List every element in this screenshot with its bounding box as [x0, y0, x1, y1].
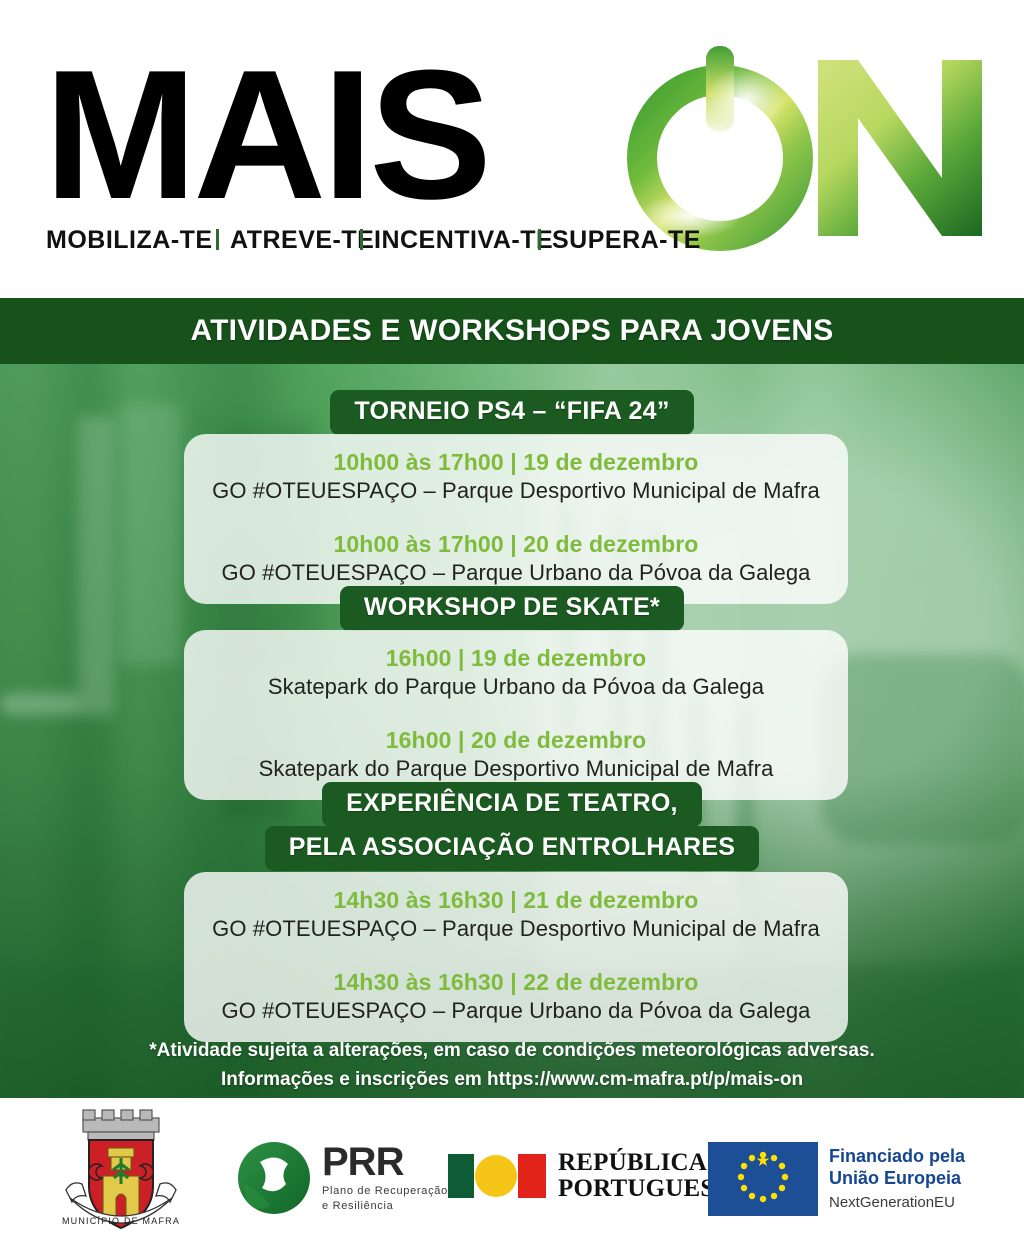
activities-content: TORNEIO PS4 – “FIFA 24” 10h00 às 17h00 |…	[0, 364, 1024, 1098]
logo-tagline-part-3: SUPERA-TE	[552, 226, 701, 253]
logo-area: MAIS MOBILIZA-TE ATREVE-TE	[0, 0, 1024, 298]
tagline-divider-icon	[360, 229, 363, 250]
section-title-experiencia-teatro-line2: PELA ASSOCIAÇÃO ENTROLHARES	[265, 826, 760, 871]
section-card-workshop-skate: 16h00 | 19 de dezembro Skatepark do Parq…	[184, 630, 848, 800]
event-place: GO #OTEUESPAÇO – Parque Urbano da Póvoa …	[184, 997, 848, 1026]
event-time: 14h30 às 16h30 | 22 de dezembro	[184, 968, 848, 997]
republica-line-2: PORTUGUESA	[558, 1176, 733, 1202]
footnote-line-1: *Atividade sujeita a alterações, em caso…	[0, 1036, 1024, 1065]
logo-tagline-part-0: MOBILIZA-TE	[46, 226, 213, 253]
prr-text-block: PRR Plano de Recuperação e Resiliência	[322, 1143, 448, 1214]
tagline-divider-icon	[538, 229, 541, 250]
republica-portuguesa-logo: REPÚBLICA PORTUGUESA	[448, 1150, 733, 1201]
section-title-workshop-skate: WORKSHOP DE SKATE*	[340, 586, 684, 631]
section-title-experiencia-teatro: EXPERIÊNCIA DE TEATRO,	[322, 782, 702, 827]
republica-text-block: REPÚBLICA PORTUGUESA	[558, 1150, 733, 1201]
mafra-crest-icon: MUNICÍPIO DE MAFRA	[56, 1106, 186, 1246]
event-time: 14h30 às 16h30 | 21 de dezembro	[184, 886, 848, 915]
section-title-row: TORNEIO PS4 – “FIFA 24”	[0, 390, 1024, 435]
event-spacer	[184, 944, 848, 968]
republica-line-1: REPÚBLICA	[558, 1150, 733, 1176]
footnote-line-2[interactable]: Informações e inscrições em https://www.…	[0, 1065, 1024, 1094]
event-time: 10h00 às 17h00 | 20 de dezembro	[184, 530, 848, 559]
poster: MAIS MOBILIZA-TE ATREVE-TE	[0, 0, 1024, 1258]
section-card-experiencia-teatro: 14h30 às 16h30 | 21 de dezembro GO #OTEU…	[184, 872, 848, 1042]
republica-flag-icon	[448, 1154, 546, 1198]
eu-line-2: União Europeia	[829, 1168, 965, 1190]
event-spacer	[184, 702, 848, 726]
prr-globe-icon	[236, 1140, 312, 1216]
eu-flag-icon	[708, 1142, 818, 1216]
event-place: GO #OTEUESPAÇO – Parque Desportivo Munic…	[184, 915, 848, 944]
section-title-row: EXPERIÊNCIA DE TEATRO,	[0, 782, 1024, 827]
event-place: GO #OTEUESPAÇO – Parque Urbano da Póvoa …	[184, 559, 848, 588]
mais-on-logo-svg: MAIS MOBILIZA-TE ATREVE-TE	[30, 38, 995, 253]
prr-logo: PRR Plano de Recuperação e Resiliência	[236, 1140, 448, 1216]
logo-word-mais: MAIS	[44, 38, 488, 237]
footnote: *Atividade sujeita a alterações, em caso…	[0, 1036, 1024, 1095]
logo-tagline: MOBILIZA-TE ATREVE-TE INCENTIVA-TE SUPER…	[46, 226, 701, 253]
logo-letter-n	[818, 60, 982, 236]
banner: ATIVIDADES E WORKSHOPS PARA JOVENS	[0, 298, 1024, 364]
logo-tagline-part-2: INCENTIVA-TE	[374, 226, 553, 253]
section-card-torneio-ps4: 10h00 às 17h00 | 19 de dezembro GO #OTEU…	[184, 434, 848, 604]
prr-sub-line-2: e Resiliência	[322, 1199, 448, 1214]
footer: MUNICÍPIO DE MAFRA	[0, 1098, 1024, 1258]
eu-line-3: NextGenerationEU	[829, 1193, 965, 1213]
event-place: Skatepark do Parque Urbano da Póvoa da G…	[184, 673, 848, 702]
section-title-row-2: PELA ASSOCIAÇÃO ENTROLHARES	[0, 826, 1024, 871]
prr-sub-line-1: Plano de Recuperação	[322, 1184, 448, 1199]
main-body: TORNEIO PS4 – “FIFA 24” 10h00 às 17h00 |…	[0, 364, 1024, 1098]
logo-power-icon	[638, 46, 798, 238]
event-time: 10h00 às 17h00 | 19 de dezembro	[184, 448, 848, 477]
event-place: Skatepark do Parque Desportivo Municipal…	[184, 755, 848, 784]
event-spacer	[184, 506, 848, 530]
tagline-divider-icon	[216, 229, 219, 250]
mafra-coat-of-arms-logo: MUNICÍPIO DE MAFRA	[56, 1106, 186, 1246]
event-time: 16h00 | 19 de dezembro	[184, 644, 848, 673]
eu-line-1: Financiado pela	[829, 1146, 965, 1168]
mafra-motto: MUNICÍPIO DE MAFRA	[62, 1216, 180, 1226]
logo-tagline-part-1: ATREVE-TE	[230, 226, 374, 253]
section-title-row: WORKSHOP DE SKATE*	[0, 586, 1024, 631]
event-time: 16h00 | 20 de dezembro	[184, 726, 848, 755]
event-place: GO #OTEUESPAÇO – Parque Desportivo Munic…	[184, 477, 848, 506]
mais-on-logo: MAIS MOBILIZA-TE ATREVE-TE	[30, 38, 995, 253]
banner-title: ATIVIDADES E WORKSHOPS PARA JOVENS	[191, 314, 834, 348]
prr-acronym: PRR	[322, 1143, 448, 1181]
eu-funding-logo: Financiado pela União Europeia NextGener…	[708, 1142, 965, 1216]
section-title-torneio-ps4: TORNEIO PS4 – “FIFA 24”	[330, 390, 693, 435]
eu-text-block: Financiado pela União Europeia NextGener…	[829, 1146, 965, 1212]
